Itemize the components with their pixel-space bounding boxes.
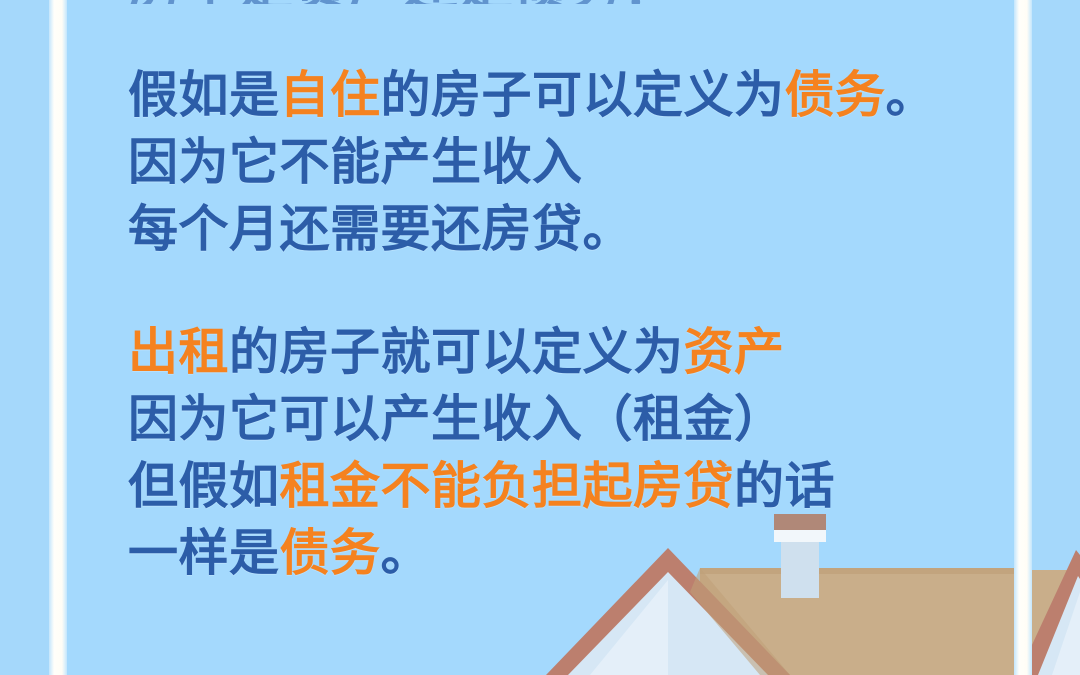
body-copy: 假如是自住的房子可以定义为债务。因为它不能产生收入每个月还需要还房贷。 出租的房… bbox=[128, 62, 1008, 587]
slide-canvas: 房子是资产还是债务？ bbox=[0, 0, 1080, 675]
gutter-right bbox=[1014, 0, 1032, 675]
paragraph-spacer bbox=[128, 263, 1008, 319]
text-line-line-6: 但假如租金不能负担起房贷的话 bbox=[128, 453, 1008, 520]
text-run: 的房子可以定义为 bbox=[381, 67, 785, 123]
highlight-term: 债务 bbox=[280, 525, 381, 581]
text-line-line-1: 假如是自住的房子可以定义为债务。 bbox=[128, 62, 1008, 129]
text-run: 每个月还需要还房贷。 bbox=[128, 201, 633, 257]
panel-right bbox=[1032, 0, 1080, 675]
gutter-left bbox=[49, 0, 67, 675]
highlight-term: 租金不能负担起房贷 bbox=[280, 458, 735, 514]
paragraph-2: 出租的房子就可以定义为资产因为它可以产生收入（租金）但假如租金不能负担起房贷的话… bbox=[128, 319, 1008, 587]
highlight-term: 出租 bbox=[128, 324, 229, 380]
text-run: 一样是 bbox=[128, 525, 280, 581]
text-line-line-7: 一样是债务。 bbox=[128, 520, 1008, 587]
highlight-term: 自住 bbox=[280, 67, 381, 123]
highlight-term: 资产 bbox=[684, 324, 785, 380]
text-run: 的房子就可以定义为 bbox=[229, 324, 684, 380]
panel-left bbox=[0, 0, 49, 675]
text-run: 因为它不能产生收入 bbox=[128, 134, 583, 190]
highlight-term: 债务 bbox=[785, 67, 886, 123]
text-line-line-4: 出租的房子就可以定义为资产 bbox=[128, 319, 1008, 386]
text-run: 假如是 bbox=[128, 67, 280, 123]
text-run: 但假如 bbox=[128, 458, 280, 514]
paragraph-1: 假如是自住的房子可以定义为债务。因为它不能产生收入每个月还需要还房贷。 bbox=[128, 62, 1008, 263]
text-run: 。 bbox=[381, 525, 432, 581]
text-run: 因为它可以产生收入（租金） bbox=[128, 391, 785, 447]
text-line-line-3: 每个月还需要还房贷。 bbox=[128, 196, 1008, 263]
text-run: 的话 bbox=[734, 458, 835, 514]
text-line-line-2: 因为它不能产生收入 bbox=[128, 129, 1008, 196]
text-line-line-5: 因为它可以产生收入（租金） bbox=[128, 386, 1008, 453]
cropped-headline: 房子是资产还是债务？ bbox=[128, 0, 948, 4]
text-run: 。 bbox=[886, 67, 937, 123]
